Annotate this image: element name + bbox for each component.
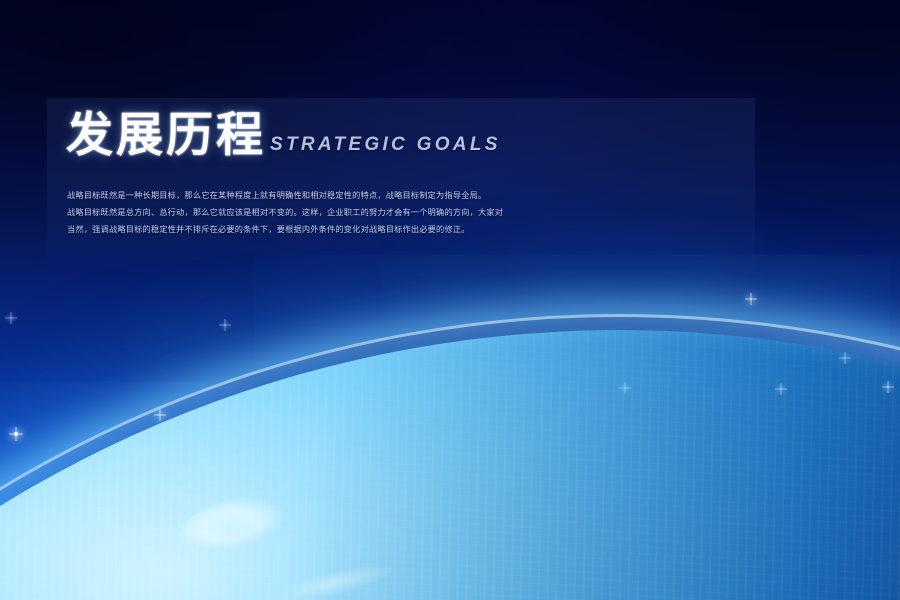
page-title-english: STRATEGIC GOALS bbox=[270, 134, 501, 156]
body-copy-line: 战略目标既然是总方向、总行动，那么它就应该是相对不变的。这样，企业职工的努力才会… bbox=[67, 204, 757, 221]
earth-scene bbox=[0, 0, 900, 600]
body-copy-line: 战略目标既然是一种长期目标，那么它在某种程度上就有明确性和相对稳定性的特点，战略… bbox=[67, 187, 757, 204]
body-copy: 战略目标既然是一种长期目标，那么它在某种程度上就有明确性和相对稳定性的特点，战略… bbox=[67, 187, 757, 238]
body-copy-line: 当然，强调战略目标的稳定性并不排斥在必要的条件下，要根据内外条件的变化对战略目标… bbox=[67, 221, 757, 238]
banner-canvas: 发展历程 STRATEGIC GOALS 战略目标既然是一种长期目标，那么它在某… bbox=[0, 0, 900, 600]
earth-sphere bbox=[0, 95, 900, 600]
page-title-chinese: 发展历程 bbox=[66, 112, 266, 159]
page-title: 发展历程 STRATEGIC GOALS bbox=[66, 112, 501, 159]
